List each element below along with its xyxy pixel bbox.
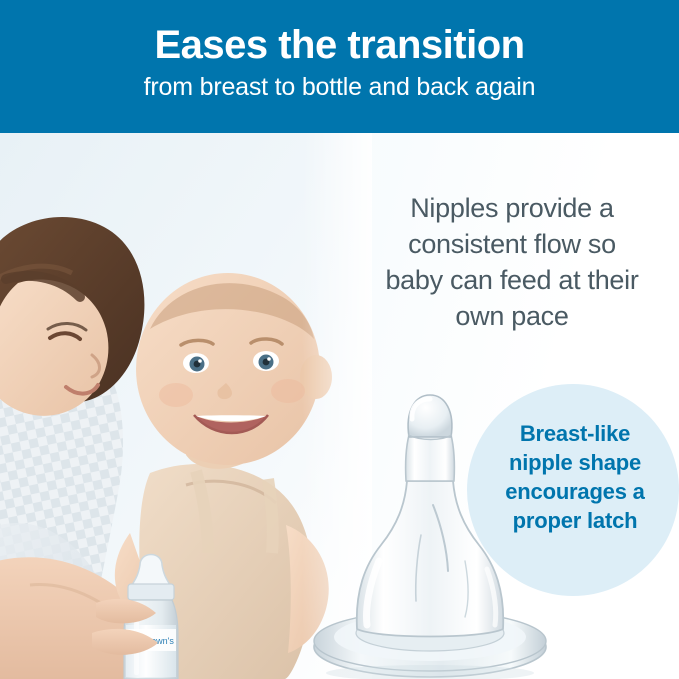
- headline-subtitle: from breast to bottle and back again: [0, 72, 679, 102]
- body-copy: Nipples provide a consistent flow so bab…: [381, 190, 643, 334]
- headline-title: Eases the transition: [0, 22, 679, 68]
- callout-text: Breast-like nipple shape encourages a pr…: [487, 419, 663, 535]
- content-stage: Dr. Brown's Nipples provide a consistent…: [0, 133, 679, 679]
- headline-banner: Eases the transition from breast to bott…: [0, 0, 679, 133]
- advertisement-image: Eases the transition from breast to bott…: [0, 0, 679, 679]
